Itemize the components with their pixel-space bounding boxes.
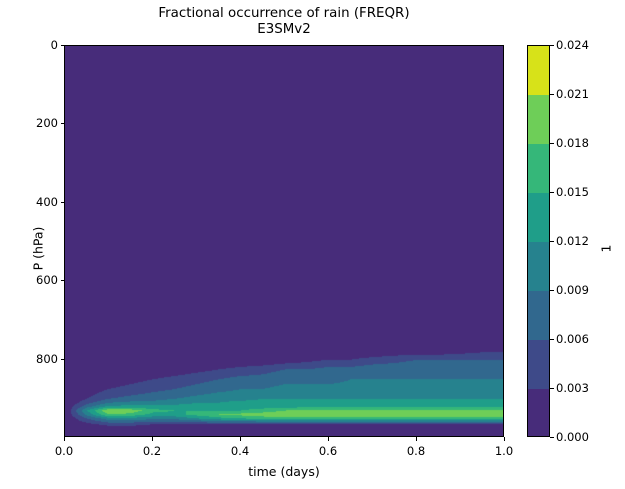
- y-tick-label: 800: [2, 352, 58, 366]
- y-tick-mark: [61, 359, 65, 360]
- colorbar-tick-label: 0.021: [556, 87, 589, 101]
- colorbar-tick-label: 0.012: [556, 234, 589, 248]
- plot-axes: [64, 45, 504, 437]
- colorbar-tick-mark: [550, 45, 554, 46]
- x-tick-mark: [240, 437, 241, 441]
- x-tick-mark: [504, 437, 505, 441]
- x-tick-label: 0.0: [55, 444, 73, 458]
- x-tick-label: 1.0: [495, 444, 513, 458]
- y-tick-label: 0: [2, 38, 58, 52]
- colorbar-label: 1: [599, 219, 614, 279]
- colorbar-tick-mark: [550, 143, 554, 144]
- y-axis-label: P (hPa): [31, 189, 46, 309]
- y-tick-label: 200: [2, 116, 58, 130]
- figure-subtitle: E3SMv2: [64, 22, 504, 38]
- x-tick-label: 0.6: [319, 444, 337, 458]
- contour-figure: Fractional occurrence of rain (FREQR) E3…: [0, 0, 625, 489]
- colorbar-band: [528, 143, 549, 193]
- x-axis-label: time (days): [64, 464, 504, 479]
- colorbar-tick-label: 0.003: [556, 381, 589, 395]
- colorbar-band: [528, 290, 549, 340]
- x-tick-mark: [416, 437, 417, 441]
- colorbar-tick-mark: [550, 388, 554, 389]
- x-tick-mark: [64, 437, 65, 441]
- colorbar-tick-mark: [550, 290, 554, 291]
- contour-heatmap: [65, 46, 504, 437]
- y-tick-mark: [61, 202, 65, 203]
- colorbar-tick-mark: [550, 339, 554, 340]
- colorbar-band: [528, 94, 549, 144]
- colorbar-tick-label: 0.006: [556, 332, 589, 346]
- y-tick-mark: [61, 280, 65, 281]
- figure-title-block: Fractional occurrence of rain (FREQR) E3…: [64, 6, 504, 38]
- colorbar-band: [528, 339, 549, 389]
- colorbar-tick-label: 0.000: [556, 430, 589, 444]
- colorbar-band: [528, 45, 549, 95]
- colorbar-tick-mark: [550, 437, 554, 438]
- page-title: Fractional occurrence of rain (FREQR): [64, 6, 504, 22]
- colorbar-tick-mark: [550, 94, 554, 95]
- colorbar-tick-mark: [550, 192, 554, 193]
- y-tick-mark: [61, 45, 65, 46]
- colorbar-tick-label: 0.018: [556, 136, 589, 150]
- x-tick-label: 0.8: [407, 444, 425, 458]
- colorbar-tick-label: 0.015: [556, 185, 589, 199]
- x-tick-mark: [152, 437, 153, 441]
- x-tick-label: 0.2: [143, 444, 161, 458]
- colorbar-band: [528, 388, 549, 437]
- colorbar-tick-label: 0.009: [556, 283, 589, 297]
- x-tick-label: 0.4: [231, 444, 249, 458]
- y-tick-mark: [61, 123, 65, 124]
- colorbar-band: [528, 241, 549, 291]
- x-tick-mark: [328, 437, 329, 441]
- colorbar-tick-label: 0.024: [556, 38, 589, 52]
- colorbar-band: [528, 192, 549, 242]
- colorbar: [527, 45, 550, 437]
- colorbar-tick-mark: [550, 241, 554, 242]
